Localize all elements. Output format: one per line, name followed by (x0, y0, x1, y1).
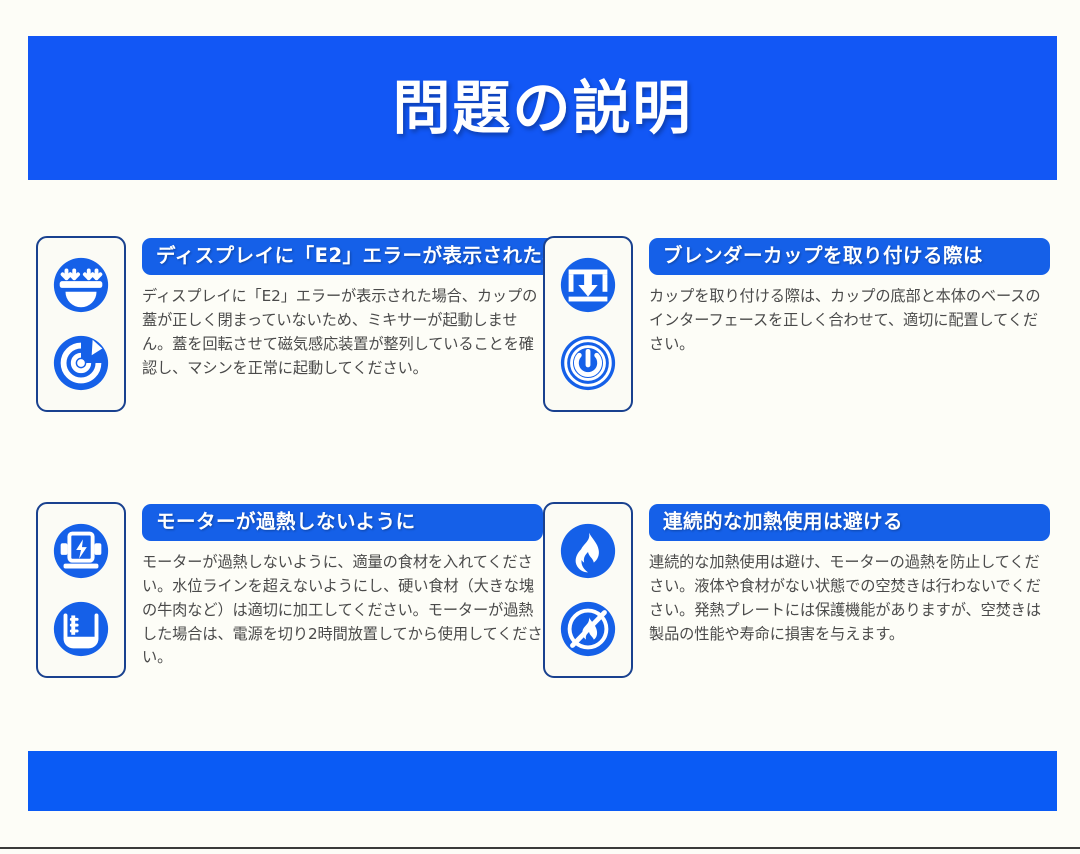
info-card-3: モーターが過熱しないように モーターが過熱しないように、適量の食材を入れてくださ… (36, 502, 543, 678)
card-title-4: 連続的な加熱使用は避ける (649, 504, 1050, 541)
footer-banner (28, 751, 1057, 811)
power-button-icon (557, 332, 619, 394)
header-banner: 問題の説明 (28, 36, 1057, 180)
info-card-4: 連続的な加熱使用は避ける 連続的な加熱使用は避け、モーターの過熱を防止してくださ… (543, 502, 1050, 678)
card-body-2: ブレンダーカップを取り付ける際は カップを取り付ける際は、カップの底部と本体のベ… (649, 236, 1050, 357)
lid-close-arrows-icon (50, 254, 112, 316)
card-body-1: ディスプレイに「E2」エラーが表示された場合 ディスプレイに「E2」エラーが表示… (142, 236, 543, 380)
bottom-divider (0, 847, 1080, 849)
icon-box-3 (36, 502, 126, 678)
card-title-3: モーターが過熱しないように (142, 504, 543, 541)
no-dry-heat-prohibited-icon (557, 598, 619, 660)
flame-icon (557, 520, 619, 582)
card-body-3: モーターが過熱しないように モーターが過熱しないように、適量の食材を入れてくださ… (142, 502, 543, 670)
rotate-refresh-icon (50, 332, 112, 394)
card-text-3: モーターが過熱しないように、適量の食材を入れてください。水位ラインを超えないよう… (142, 551, 543, 670)
card-text-4: 連続的な加熱使用は避け、モーターの過熱を防止してください。液体や食材がない状態で… (649, 551, 1050, 646)
icon-box-1 (36, 236, 126, 412)
icon-box-2 (543, 236, 633, 412)
cards-grid: ディスプレイに「E2」エラーが表示された場合 ディスプレイに「E2」エラーが表示… (36, 236, 1052, 678)
card-text-2: カップを取り付ける際は、カップの底部と本体のベースのインターフェースを正しく合わ… (649, 285, 1050, 356)
info-card-1: ディスプレイに「E2」エラーが表示された場合 ディスプレイに「E2」エラーが表示… (36, 236, 543, 412)
insert-down-into-base-icon (557, 254, 619, 316)
motor-power-box-icon (50, 520, 112, 582)
card-title-1: ディスプレイに「E2」エラーが表示された場合 (142, 238, 597, 275)
page-title: 問題の説明 (392, 79, 692, 137)
card-body-4: 連続的な加熱使用は避ける 連続的な加熱使用は避け、モーターの過熱を防止してくださ… (649, 502, 1050, 646)
water-level-cup-icon (50, 598, 112, 660)
icon-box-4 (543, 502, 633, 678)
info-card-2: ブレンダーカップを取り付ける際は カップを取り付ける際は、カップの底部と本体のベ… (543, 236, 1050, 412)
card-text-1: ディスプレイに「E2」エラーが表示された場合、カップの蓋が正しく閉まっていないた… (142, 285, 543, 380)
card-title-2: ブレンダーカップを取り付ける際は (649, 238, 1050, 275)
